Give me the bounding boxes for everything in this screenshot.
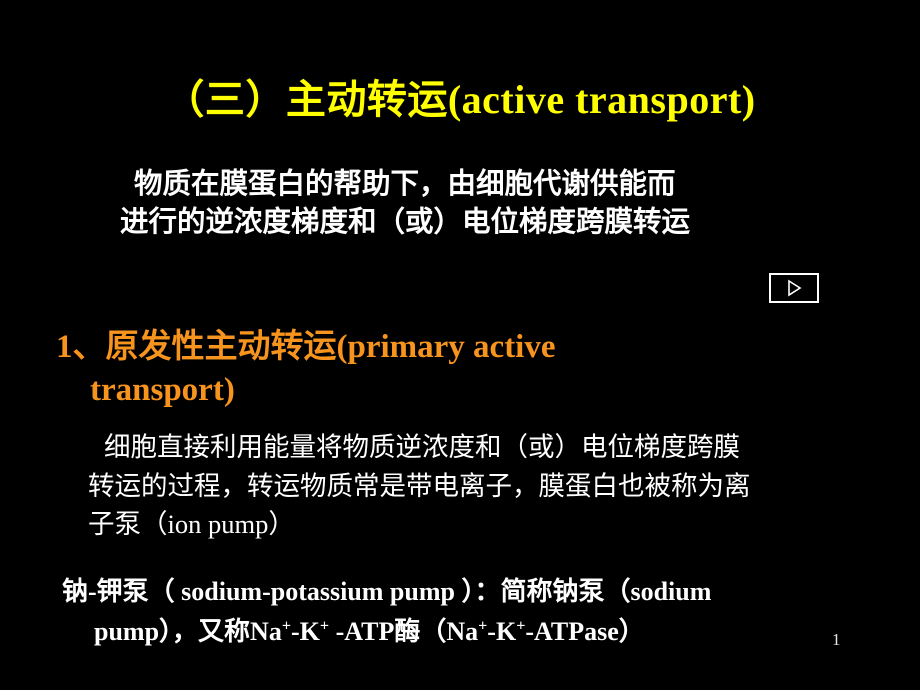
paragraph-sodium-potassium-pump: 钠-钾泵（ sodium-potassium pump ）：简称钠泵（sodiu…	[62, 572, 882, 651]
slide-canvas: （三）主动转运(active transport) 物质在膜蛋白的帮助下，由细胞…	[0, 0, 920, 690]
paragraph-2-text-d: -K	[487, 617, 516, 646]
page-number: 1	[832, 630, 841, 650]
superscript-plus-1: +	[282, 617, 291, 634]
play-button[interactable]	[769, 273, 819, 303]
superscript-plus-3: +	[478, 617, 487, 634]
section-heading-line-1: 1、原发性主动转运(primary active	[56, 329, 556, 365]
superscript-plus-4: +	[516, 617, 525, 634]
paragraph-2-text-e: -ATPase）	[525, 617, 644, 646]
paragraph-2-text-a: pump），又称Na	[94, 617, 282, 646]
subtitle-block: 物质在膜蛋白的帮助下，由细胞代谢供能而 进行的逆浓度梯度和（或）电位梯度跨膜转运	[120, 166, 860, 242]
section-heading: 1、原发性主动转运(primary active transport)	[56, 326, 756, 412]
paragraph-primary-active-transport: 细胞直接利用能量将物质逆浓度和（或）电位梯度跨膜 转运的过程，转运物质常是带电离…	[88, 428, 878, 544]
paragraph-2-line-2: pump），又称Na+-K+ -ATP酶（Na+-K+-ATPase）	[62, 612, 882, 652]
subtitle-line-1: 物质在膜蛋白的帮助下，由细胞代谢供能而	[120, 166, 860, 204]
paragraph-2-line-1: 钠-钾泵（ sodium-potassium pump ）：简称钠泵（sodiu…	[62, 572, 882, 612]
paragraph-1-line-2: 转运的过程，转运物质常是带电离子，膜蛋白也被称为离	[88, 467, 878, 506]
paragraph-1-line-1: 细胞直接利用能量将物质逆浓度和（或）电位梯度跨膜	[88, 428, 878, 467]
paragraph-2-text-c: -ATP酶（Na	[329, 617, 478, 646]
subtitle-line-2: 进行的逆浓度梯度和（或）电位梯度跨膜转运	[120, 204, 860, 242]
play-triangle-icon	[785, 279, 803, 297]
paragraph-1-line-3: 子泵（ion pump）	[88, 505, 878, 544]
superscript-plus-2: +	[320, 617, 329, 634]
page-title: （三）主动转运(active transport)	[0, 78, 920, 123]
paragraph-2-text-b: -K	[291, 617, 320, 646]
section-heading-line-2: transport)	[56, 369, 756, 412]
